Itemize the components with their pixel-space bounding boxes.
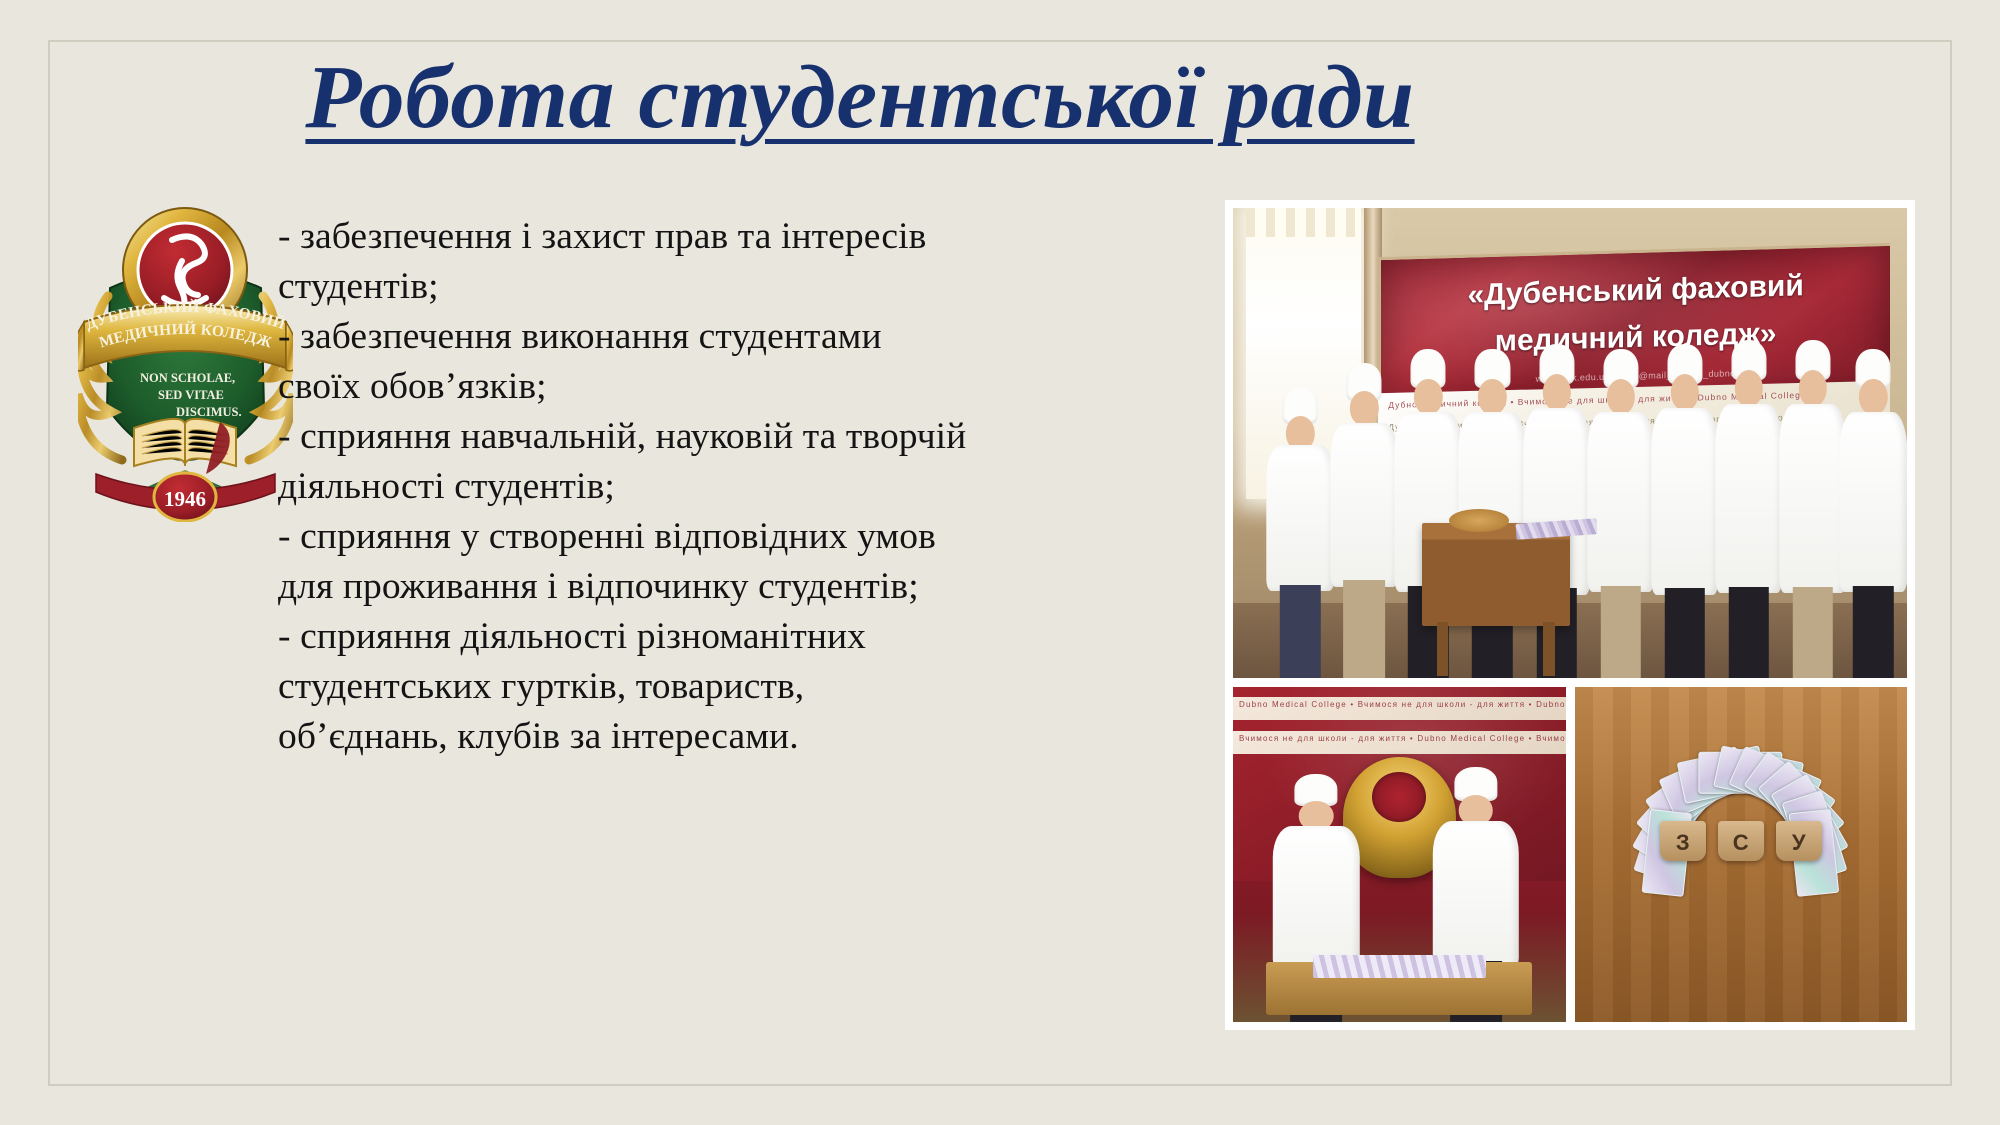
presentation-slide: Робота студентської ради [0,0,2000,1125]
head [1478,379,1506,415]
list-item: - забезпечення виконання студентами свої… [278,312,968,412]
page-title: Робота студентської ради [120,52,1600,144]
legs [1728,587,1768,678]
legs [1792,587,1832,678]
white-coat [1267,445,1334,591]
student-group [1233,208,1907,678]
head [1542,374,1570,411]
person [1523,344,1590,678]
emblem-motto-line-1: NON SCHOLAE, [140,371,235,385]
group-photo-in-front-of-college-banner: «Дубенський фаховий медичний коледж» www… [1233,208,1907,678]
white-coat [1433,821,1519,969]
white-coat [1273,826,1359,970]
person [1267,387,1334,678]
head [1859,379,1887,415]
wooden-table [1422,523,1570,626]
emblem-motto-line-3: DISCIMUS. [176,405,242,419]
cup-letter: С [1733,830,1749,856]
head [1734,370,1762,407]
emblem-svg: ДУБЕНСЬКИЙ ФАХОВИЙ МЕДИЧНИЙ КОЛЕДЖ NON S… [78,192,293,522]
head [1798,370,1826,407]
table-leg [1543,622,1555,676]
banknotes-and-cups-photo: З С У [1575,687,1908,1022]
table-leg [1437,622,1449,676]
cup-letter: З [1676,830,1690,856]
head [1350,391,1378,426]
photo-bottom-row: Dubno Medical College • Вчимося не для ш… [1233,687,1907,1022]
white-coat [1715,404,1782,593]
person [1651,344,1718,678]
person [1331,363,1398,678]
list-item: - сприяння навчальній, науковій та творч… [278,412,968,512]
person [1779,340,1846,678]
college-emblem-logo: ДУБЕНСЬКИЙ ФАХОВИЙ МЕДИЧНИЙ КОЛЕДЖ NON S… [78,192,293,522]
student-council-duties-list: - забезпечення і захист прав та інтересі… [278,212,968,762]
white-coat [1587,412,1654,593]
cups-row: З С У [1660,821,1822,861]
white-coat [1840,412,1907,593]
head [1670,374,1698,411]
head [1414,379,1442,415]
legs [1280,585,1320,678]
students-at-table-photo: Dubno Medical College • Вчимося не для ш… [1233,687,1566,1022]
emblem-motto-line-2: SED VITAE [158,388,224,402]
list-item: - сприяння у створенні відповідних умов … [278,512,968,612]
cup-letter-u: У [1776,821,1822,861]
page-title-text: Робота студентської ради [105,52,1615,144]
person [1715,340,1782,678]
cup-letter-s: С [1718,821,1764,861]
cup-letter-z: З [1660,821,1706,861]
banknotes-on-table [1313,955,1486,978]
white-coat [1779,404,1846,593]
legs [1853,586,1893,678]
photo-collage: «Дубенський фаховий медичний коледж» www… [1225,200,1915,1030]
legs [1600,586,1640,678]
person [1840,349,1907,678]
list-item: - забезпечення і захист прав та інтересі… [278,212,968,312]
person [1395,349,1462,678]
head [1606,379,1634,415]
legs [1664,588,1704,678]
person [1587,349,1654,678]
legs [1344,580,1386,678]
emblem-year: 1946 [164,487,206,511]
white-coat [1651,408,1718,595]
white-coat [1331,423,1398,587]
list-item: - сприяння діяльності різноманітних студ… [278,612,968,762]
cup-letter: У [1792,830,1806,856]
